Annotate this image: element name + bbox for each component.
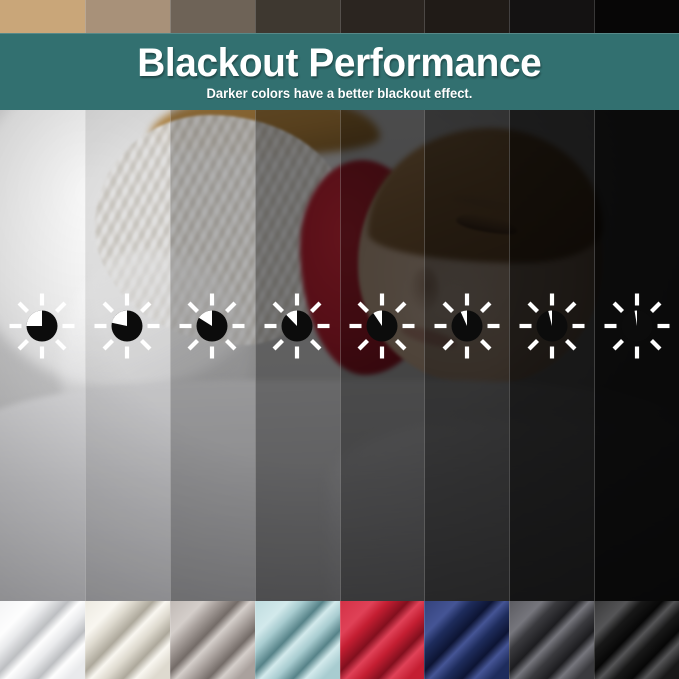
fabric-fold-highlight	[424, 601, 509, 679]
color-gradient-strip	[0, 0, 679, 33]
sun-icon	[91, 290, 163, 362]
color-strip-band-black	[594, 0, 679, 33]
fabric-fold-highlight	[509, 601, 594, 679]
fabric-fold-highlight	[170, 601, 255, 679]
color-strip-band-tan	[0, 0, 85, 33]
sun-icon	[176, 290, 248, 362]
sun-brightness-indicators	[0, 288, 679, 364]
fabric-fold-highlight	[594, 601, 679, 679]
color-strip-band-brown-grey	[170, 0, 255, 33]
sun-icon-cell-6	[424, 288, 509, 364]
sun-icon-cell-4	[255, 288, 340, 364]
fabric-swatch-black	[594, 601, 679, 679]
fabric-fold-highlight	[0, 601, 85, 679]
sun-icon-cell-7	[509, 288, 594, 364]
color-strip-band-dark-brown	[255, 0, 340, 33]
fabric-fold-highlight	[85, 601, 170, 679]
sun-icon	[431, 290, 503, 362]
color-strip-band-very-dark-brown	[340, 0, 425, 33]
sun-icon	[601, 290, 673, 362]
fabric-fold-highlight	[255, 601, 340, 679]
fabric-swatch-taupe	[170, 601, 255, 679]
header-banner: Blackout Performance Darker colors have …	[0, 33, 679, 110]
sun-icon	[261, 290, 333, 362]
fabric-swatch-navy	[424, 601, 509, 679]
sun-icon-cell-3	[170, 288, 255, 364]
fabric-swatch-dark-grey	[509, 601, 594, 679]
fabric-swatch-cream	[85, 601, 170, 679]
color-strip-band-warm-taupe	[85, 0, 170, 33]
fabric-swatch-white	[0, 601, 85, 679]
color-strip-band-charcoal	[509, 0, 594, 33]
fabric-swatch-red	[340, 601, 425, 679]
fabric-color-swatches	[0, 601, 679, 679]
sun-icon-cell-1	[0, 288, 85, 364]
fabric-swatch-light-teal	[255, 601, 340, 679]
sun-icon-light-wedge	[27, 311, 43, 327]
fabric-fold-highlight	[340, 601, 425, 679]
sun-icon	[516, 290, 588, 362]
page-subtitle: Darker colors have a better blackout eff…	[207, 87, 473, 101]
sun-icon-cell-2	[85, 288, 170, 364]
sun-icon-cell-8	[594, 288, 679, 364]
sun-icon	[346, 290, 418, 362]
sun-icon-cell-5	[340, 288, 425, 364]
sun-icon	[6, 290, 78, 362]
blackout-performance-infographic: Blackout Performance Darker colors have …	[0, 0, 679, 679]
page-title: Blackout Performance	[137, 43, 541, 83]
color-strip-band-near-black-brown	[424, 0, 509, 33]
